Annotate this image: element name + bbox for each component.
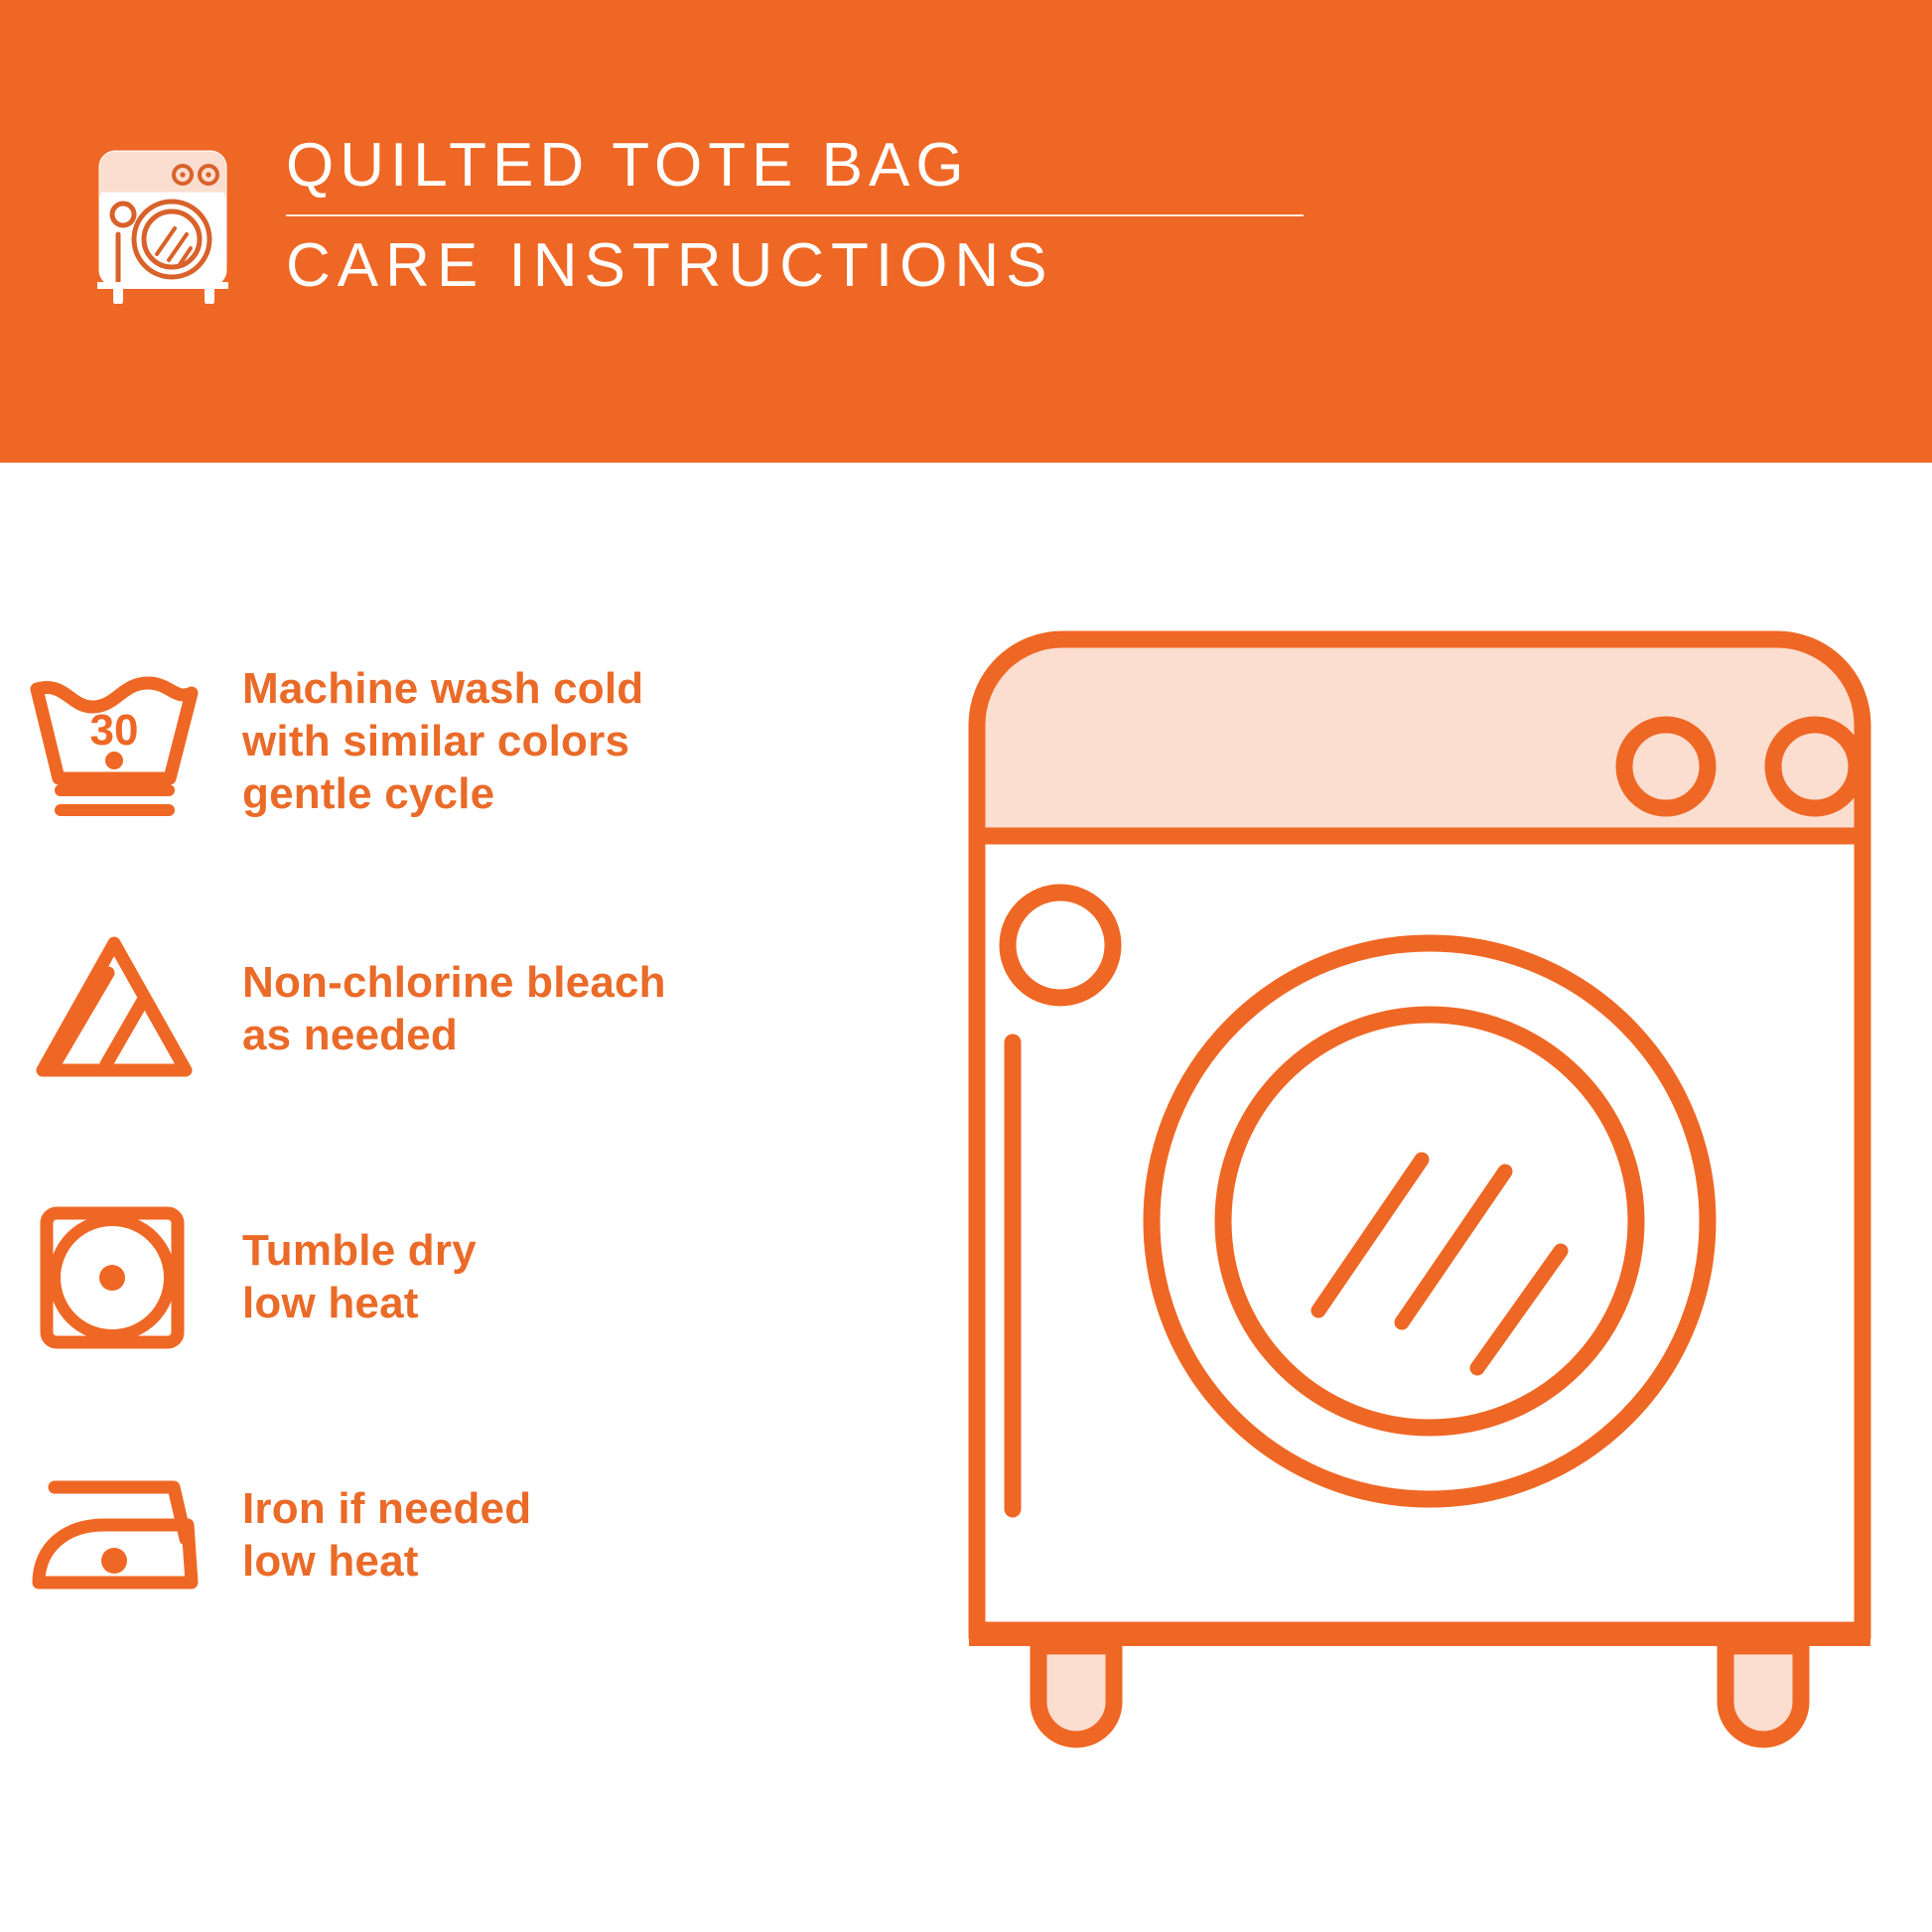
care-item-label: Machine wash cold with similar colors ge… xyxy=(228,662,643,820)
page-title: QUILTED TOTE BAG xyxy=(286,127,1338,205)
washer-door xyxy=(1152,943,1708,1499)
care-item-label: Non-chlorine bleach as needed xyxy=(228,956,666,1061)
washing-machine-illustration xyxy=(953,616,1886,1896)
washer-door-inner xyxy=(1223,1015,1636,1428)
detergent-port xyxy=(1008,893,1113,998)
tumble-dry-low-heat-icon xyxy=(0,1177,228,1376)
control-panel xyxy=(977,639,1863,836)
non-chlorine-bleach-triangle-icon xyxy=(0,909,228,1108)
wash-temperature-value: 30 xyxy=(90,706,139,755)
leg xyxy=(1725,1646,1801,1739)
iron-low-heat-icon xyxy=(0,1436,228,1634)
header-banner: QUILTED TOTE BAG CARE INSTRUCTIONS xyxy=(0,0,1932,463)
page-subtitle: CARE INSTRUCTIONS xyxy=(286,228,1338,304)
care-item-label: Tumble dry low heat xyxy=(228,1224,477,1329)
care-item-tumble-dry: Tumble dry low heat xyxy=(0,1177,913,1376)
care-item-label: Iron if needed low heat xyxy=(228,1482,531,1587)
care-instructions-page: QUILTED TOTE BAG CARE INSTRUCTIONS 30 Ma… xyxy=(0,0,1932,1932)
leg xyxy=(1038,1646,1114,1739)
care-instruction-list: 30 Machine wash cold with similar colors… xyxy=(0,463,953,1932)
care-item-bleach: Non-chlorine bleach as needed xyxy=(0,909,913,1108)
care-item-machine-wash: 30 Machine wash cold with similar colors… xyxy=(0,641,913,840)
washing-machine-icon xyxy=(87,137,246,296)
title-divider xyxy=(286,214,1304,216)
care-item-iron: Iron if needed low heat xyxy=(0,1436,913,1634)
wash-tub-30-gentle-icon: 30 xyxy=(0,641,228,840)
header-title-block: QUILTED TOTE BAG CARE INSTRUCTIONS xyxy=(286,127,1338,304)
